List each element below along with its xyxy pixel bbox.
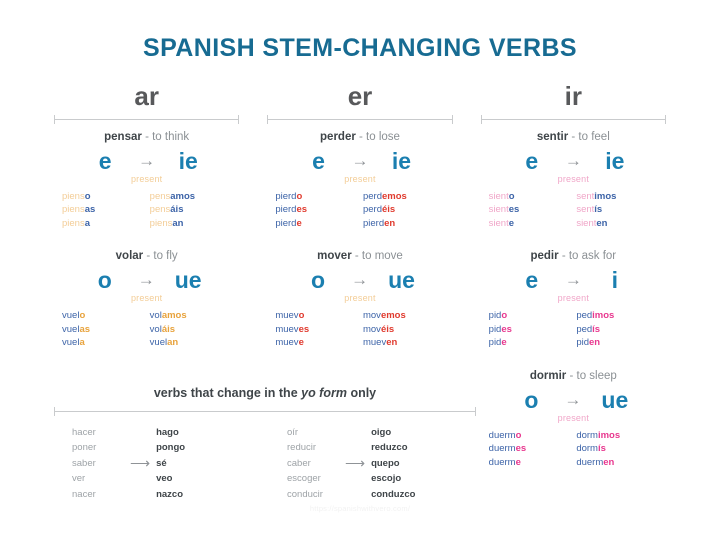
verb-infinitive: dormir [530,370,566,382]
stem-change-from: e [305,149,331,173]
conjugation-table: sientosientessientesentimossentíssienten [471,190,676,230]
verb-block-mover: mover - to moveo→uepresentmuevomuevesmue… [257,250,462,349]
verb-title: volar - to fly [44,250,249,264]
stem-change-to: ue [175,268,202,292]
conjugation-form: sientes [489,203,571,216]
yo-infinitive: reducir [287,440,339,455]
arrow-right-icon: → [351,271,368,289]
yo-form-list: oigoreduzcoquepoescojoconduzco [371,425,433,502]
verb-block-pedir: pedir - to ask fore→ipresentpidopidespid… [471,250,676,349]
conjugation-form: piden [576,336,658,349]
yo-heading-italic: yo form [301,386,347,400]
conjugation-plural: dormimosdormísduermen [570,429,658,469]
arrow-right-icon: → [564,391,581,409]
yo-infinitive: nacer [72,487,124,502]
verb-title: perder - to lose [257,131,462,145]
stem-change-from: o [92,268,118,292]
conjugation-form: sentís [576,203,658,216]
yo-form: escojo [371,471,433,486]
yo-form-group-0: hacerponersabervernacer⟶hagopongoséveona… [50,425,265,502]
divider-cap-right [238,115,239,124]
verb-infinitive: sentir [537,131,568,143]
conjugation-plural: pedimospedíspiden [570,309,658,349]
verb-translation: - to think [145,131,189,143]
tense-label: present [257,174,462,184]
divider-cap-right [475,407,476,416]
divider-cap-right [452,115,453,124]
verb-infinitive: pensar [104,131,142,143]
conjugation-plural: movemosmovéismueven [357,309,445,349]
verb-title: mover - to move [257,250,462,264]
yo-form: quepo [371,456,433,471]
divider-cap-left [54,115,55,124]
conjugation-form: duerme [489,456,571,469]
verb-translation: - to fly [146,250,177,262]
stem-change-row: o→ue [471,388,676,412]
stem-change-row: e→ie [471,149,676,173]
conjugation-singular: pierdopierdespierde [275,190,357,230]
conjugation-singular: muevomuevesmueve [275,309,357,349]
conjugation-form: mueven [363,336,445,349]
verb-translation: - to lose [359,131,400,143]
conjugation-table: vuelovuelasvuelavolamosvoláisvuelan [44,309,249,349]
stem-change-to: ie [602,149,628,173]
yo-form: veo [156,471,218,486]
conjugation-singular: piensopiensaspiensa [62,190,144,230]
verb-block-dormir: dormir - to sleepo→uepresentduermoduerme… [471,370,676,469]
yo-form-group-1: oírreducircaberescogerconducir⟶oigoreduz… [265,425,480,502]
arrow-right-icon: → [138,152,155,170]
column-divider [481,115,666,124]
conjugation-form: vuelo [62,309,144,322]
stem-change-row: o→ue [257,268,462,292]
yo-infinitive: caber [287,456,339,471]
conjugation-form: pedimos [576,309,658,322]
yo-infinitive-list: hacerponersabervernacer [72,425,124,502]
stem-change-to: ie [388,149,414,173]
conjugation-form: pides [489,323,571,336]
column-heading: ar [44,83,249,109]
arrow-right-icon: ⟶ [124,455,156,472]
conjugation-form: duermes [489,442,571,455]
conjugation-form: piensa [62,217,144,230]
stem-change-from: o [518,388,544,412]
tense-label: present [471,413,676,423]
conjugation-singular: vuelovuelasvuela [62,309,144,349]
yo-form: reduzco [371,440,433,455]
stem-change-row: e→i [471,268,676,292]
conjugation-singular: duermoduermesduerme [489,429,571,469]
stem-change-to: ue [388,268,415,292]
conjugation-form: volamos [150,309,232,322]
conjugation-singular: pidopidespide [489,309,571,349]
arrow-right-icon: → [138,271,155,289]
conjugation-form: dormimos [576,429,658,442]
conjugation-form: sentimos [576,190,658,203]
conjugation-form: pedís [576,323,658,336]
watermark: https://spanishwithvero.com/ [0,504,720,513]
conjugation-form: pensáis [150,203,232,216]
conjugation-form: pienso [62,190,144,203]
conjugation-form: pide [489,336,571,349]
conjugation-form: pierden [363,217,445,230]
yo-infinitive: saber [72,456,124,471]
conjugation-form: mueve [275,336,357,349]
stem-change-from: e [519,149,545,173]
verb-title: dormir - to sleep [471,370,676,384]
column-heading: er [257,83,462,109]
stem-change-row: o→ue [44,268,249,292]
conjugation-form: mueves [275,323,357,336]
conjugation-form: perdemos [363,190,445,203]
verb-translation: - to move [355,250,403,262]
verb-block-volar: volar - to flyo→uepresentvuelovuelasvuel… [44,250,249,349]
conjugation-form: pierdo [275,190,357,203]
stem-change-to: ue [601,388,628,412]
tense-label: present [471,293,676,303]
verb-infinitive: mover [317,250,352,262]
yo-form-lists: hacerponersabervernacer⟶hagopongoséveona… [50,425,480,502]
conjugation-plural: perdemosperdéispierden [357,190,445,230]
yo-form: nazco [156,487,218,502]
conjugation-form: duermen [576,456,658,469]
yo-infinitive-list: oírreducircaberescogerconducir [287,425,339,502]
verb-translation: - to feel [571,131,609,143]
conjugation-form: piensan [150,217,232,230]
arrow-right-icon: → [565,152,582,170]
yo-form: pongo [156,440,218,455]
yo-form: oigo [371,425,433,440]
conjugation-form: movéis [363,323,445,336]
conjugation-plural: sentimossentíssienten [570,190,658,230]
conjugation-form: dormís [576,442,658,455]
yo-form-list: hagopongoséveonazco [156,425,218,502]
stem-change-from: o [305,268,331,292]
arrow-right-icon: ⟶ [339,455,371,472]
conjugation-form: piensas [62,203,144,216]
verb-block-sentir: sentir - to feele→iepresentsientosientes… [471,131,676,230]
page-title: SPANISH STEM-CHANGING VERBS [0,34,720,63]
verb-translation: - to sleep [569,370,616,382]
verb-infinitive: volar [116,250,144,262]
yo-infinitive: ver [72,471,124,486]
conjugation-form: vuela [62,336,144,349]
yo-form-box: verbs that change in the yo form only ha… [50,386,480,502]
conjugation-form: voláis [150,323,232,336]
yo-form: hago [156,425,218,440]
conjugation-table: duermoduermesduermedormimosdormísduermen [471,429,676,469]
column-divider [54,115,239,124]
yo-infinitive: poner [72,440,124,455]
conjugation-form: vuelas [62,323,144,336]
verb-block-pensar: pensar - to thinke→iepresentpiensopiensa… [44,131,249,230]
verb-block-perder: perder - to losee→iepresentpierdopierdes… [257,131,462,230]
yo-form: conduzco [371,487,433,502]
stem-change-row: e→ie [257,149,462,173]
conjugation-form: muevo [275,309,357,322]
verb-infinitive: perder [320,131,356,143]
conjugation-table: piensopiensaspiensapensamospensáispiensa… [44,190,249,230]
stem-change-row: e→ie [44,149,249,173]
conjugation-form: duermo [489,429,571,442]
yo-infinitive: oír [287,425,339,440]
stem-change-to: ie [175,149,201,173]
conjugation-form: siento [489,190,571,203]
stem-change-from: e [92,149,118,173]
divider-cap-left [267,115,268,124]
conjugation-table: pidopidespidepedimospedíspiden [471,309,676,349]
tense-label: present [44,174,249,184]
conjugation-plural: pensamospensáispiensan [144,190,232,230]
conjugation-form: pierdes [275,203,357,216]
conjugation-form: vuelan [150,336,232,349]
yo-infinitive: conducir [287,487,339,502]
conjugation-form: movemos [363,309,445,322]
conjugation-table: pierdopierdespierdeperdemosperdéispierde… [257,190,462,230]
yo-infinitive: hacer [72,425,124,440]
yo-form-divider [54,407,476,416]
yo-heading-pre: verbs that change in the [154,386,301,400]
stem-change-from: e [519,268,545,292]
conjugation-singular: sientosientessiente [489,190,571,230]
yo-form: sé [156,456,218,471]
divider-cap-left [481,115,482,124]
conjugation-form: perdéis [363,203,445,216]
verb-column-ir: irsentir - to feele→iepresentsientosient… [467,83,680,469]
tense-label: present [257,293,462,303]
verb-infinitive: pedir [530,250,558,262]
conjugation-form: pido [489,309,571,322]
conjugation-form: sienten [576,217,658,230]
tense-label: present [44,293,249,303]
yo-form-heading: verbs that change in the yo form only [50,386,480,400]
conjugation-form: pensamos [150,190,232,203]
tense-label: present [471,174,676,184]
verb-title: pedir - to ask for [471,250,676,264]
column-divider [267,115,452,124]
yo-heading-post: only [347,386,376,400]
verb-title: pensar - to think [44,131,249,145]
arrow-right-icon: → [565,271,582,289]
conjugation-form: siente [489,217,571,230]
conjugation-table: muevomuevesmuevemovemosmovéismueven [257,309,462,349]
conjugation-plural: volamosvoláisvuelan [144,309,232,349]
conjugation-form: pierde [275,217,357,230]
arrow-right-icon: → [351,152,368,170]
column-heading: ir [471,83,676,109]
divider-cap-left [54,407,55,416]
divider-cap-right [665,115,666,124]
yo-infinitive: escoger [287,471,339,486]
verb-title: sentir - to feel [471,131,676,145]
verb-translation: - to ask for [562,250,616,262]
stem-change-to: i [602,268,628,292]
